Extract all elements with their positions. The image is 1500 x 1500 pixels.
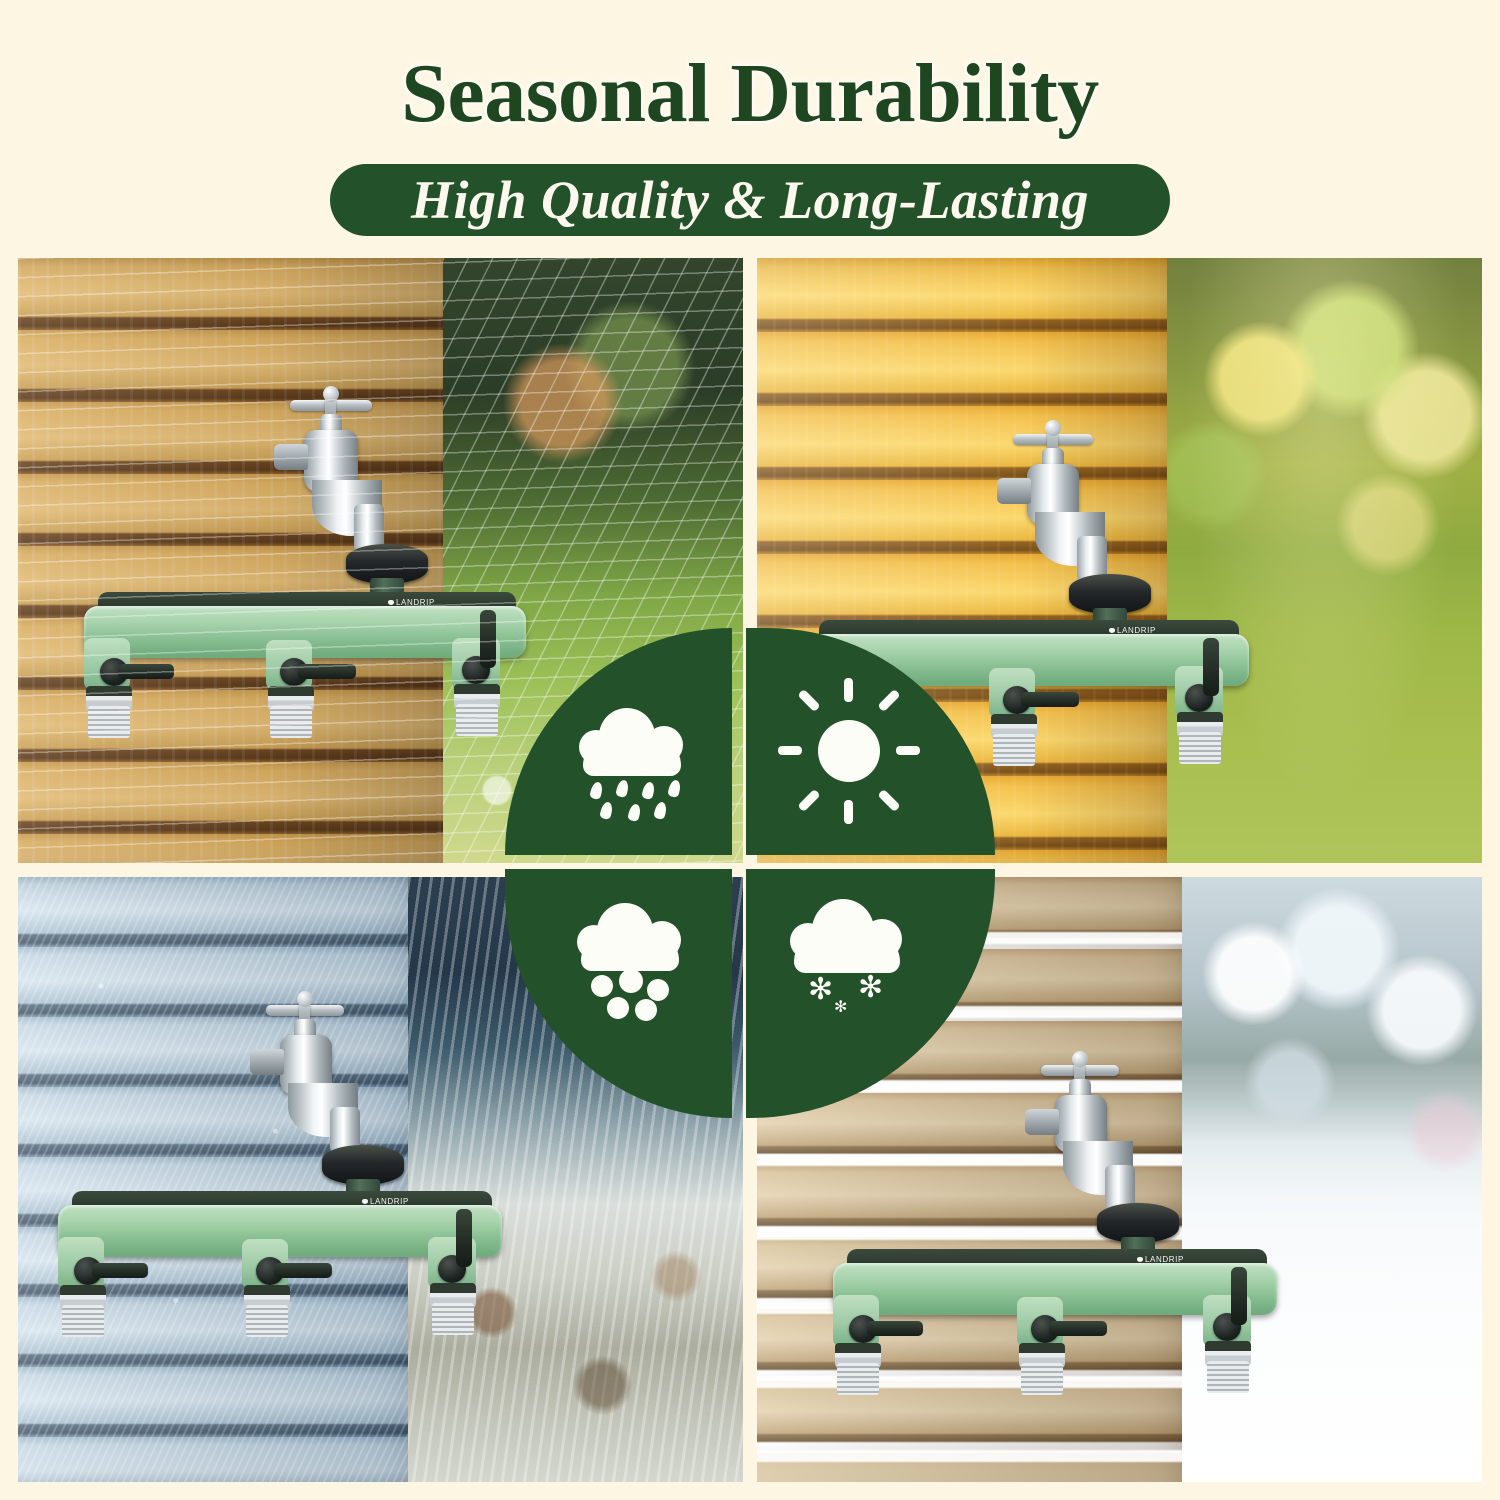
splitter-hose-thread-3 (432, 1303, 474, 1335)
infographic-canvas: Seasonal Durability High Quality & Long-… (0, 0, 1500, 1500)
panel-sun: LANDRIP (757, 258, 1482, 863)
splitter-lever-3 (480, 610, 496, 668)
faucet-handle-knob (297, 991, 313, 1007)
subtitle-pill: High Quality & Long-Lasting (330, 164, 1170, 236)
faucet-handle-knob (323, 386, 339, 402)
splitter-hose-thread-1 (62, 1305, 104, 1337)
splitter-lever-1 (839, 692, 895, 707)
panel-rain: LANDRIP (18, 258, 743, 863)
brand-logo-sun: LANDRIP (1109, 626, 1156, 635)
brand-logo-mark (388, 600, 394, 605)
splitter-hose-thread-1 (88, 706, 130, 738)
faucet-wall-nut (250, 1049, 284, 1075)
brand-logo-text: LANDRIP (1145, 1255, 1184, 1264)
brand-logo-snow: LANDRIP (1137, 1255, 1184, 1264)
faucet-handle-knob (1072, 1051, 1088, 1067)
hose-splitter-product-snow: LANDRIP (757, 877, 1482, 1482)
brand-logo-text: LANDRIP (396, 598, 435, 607)
page-title: Seasonal Durability (0, 44, 1500, 144)
brand-logo-frost: LANDRIP (362, 1197, 409, 1206)
season-panel-grid: LANDRIP (18, 258, 1482, 1482)
faucet-handle-knob (1045, 420, 1061, 436)
brand-logo-mark (362, 1199, 368, 1204)
splitter-hose-thread-1 (809, 734, 851, 766)
splitter-lever-3 (456, 1209, 472, 1267)
hose-splitter-product-rain: LANDRIP (18, 258, 743, 863)
splitter-hose-thread-2 (1021, 1363, 1063, 1395)
splitter-lever-2 (274, 1263, 332, 1278)
splitter-lever-1 (118, 664, 174, 679)
brand-logo-text: LANDRIP (370, 1197, 409, 1206)
splitter-lever-2 (1049, 1321, 1107, 1336)
panel-frost: LANDRIP (18, 877, 743, 1482)
splitter-lever-3 (1203, 638, 1219, 696)
splitter-lever-3 (1231, 1267, 1247, 1325)
faucet-wall-nut (997, 478, 1031, 504)
splitter-hose-thread-3 (456, 704, 498, 736)
splitter-hose-thread-3 (1207, 1361, 1249, 1393)
splitter-lever-1 (867, 1321, 923, 1336)
splitter-lever-1 (92, 1263, 148, 1278)
hose-splitter-product-sun: LANDRIP (757, 258, 1482, 863)
splitter-hose-thread-3 (1179, 732, 1221, 764)
brand-logo-text: LANDRIP (1117, 626, 1156, 635)
faucet-wall-nut (1025, 1109, 1059, 1135)
faucet-wall-nut (274, 444, 308, 470)
brand-logo-rain: LANDRIP (388, 598, 435, 607)
splitter-hose-thread-2 (270, 706, 312, 738)
splitter-hose-thread-1 (837, 1363, 879, 1395)
panel-snow: LANDRIP (757, 877, 1482, 1482)
brand-logo-mark (1109, 628, 1115, 633)
splitter-lever-2 (1021, 692, 1079, 707)
splitter-hose-thread-2 (993, 734, 1035, 766)
splitter-lever-2 (298, 664, 356, 679)
hose-splitter-product-frost: LANDRIP (18, 877, 743, 1482)
brand-logo-mark (1137, 1257, 1143, 1262)
splitter-hose-thread-2 (246, 1305, 288, 1337)
subtitle-text: High Quality & Long-Lasting (411, 171, 1089, 229)
